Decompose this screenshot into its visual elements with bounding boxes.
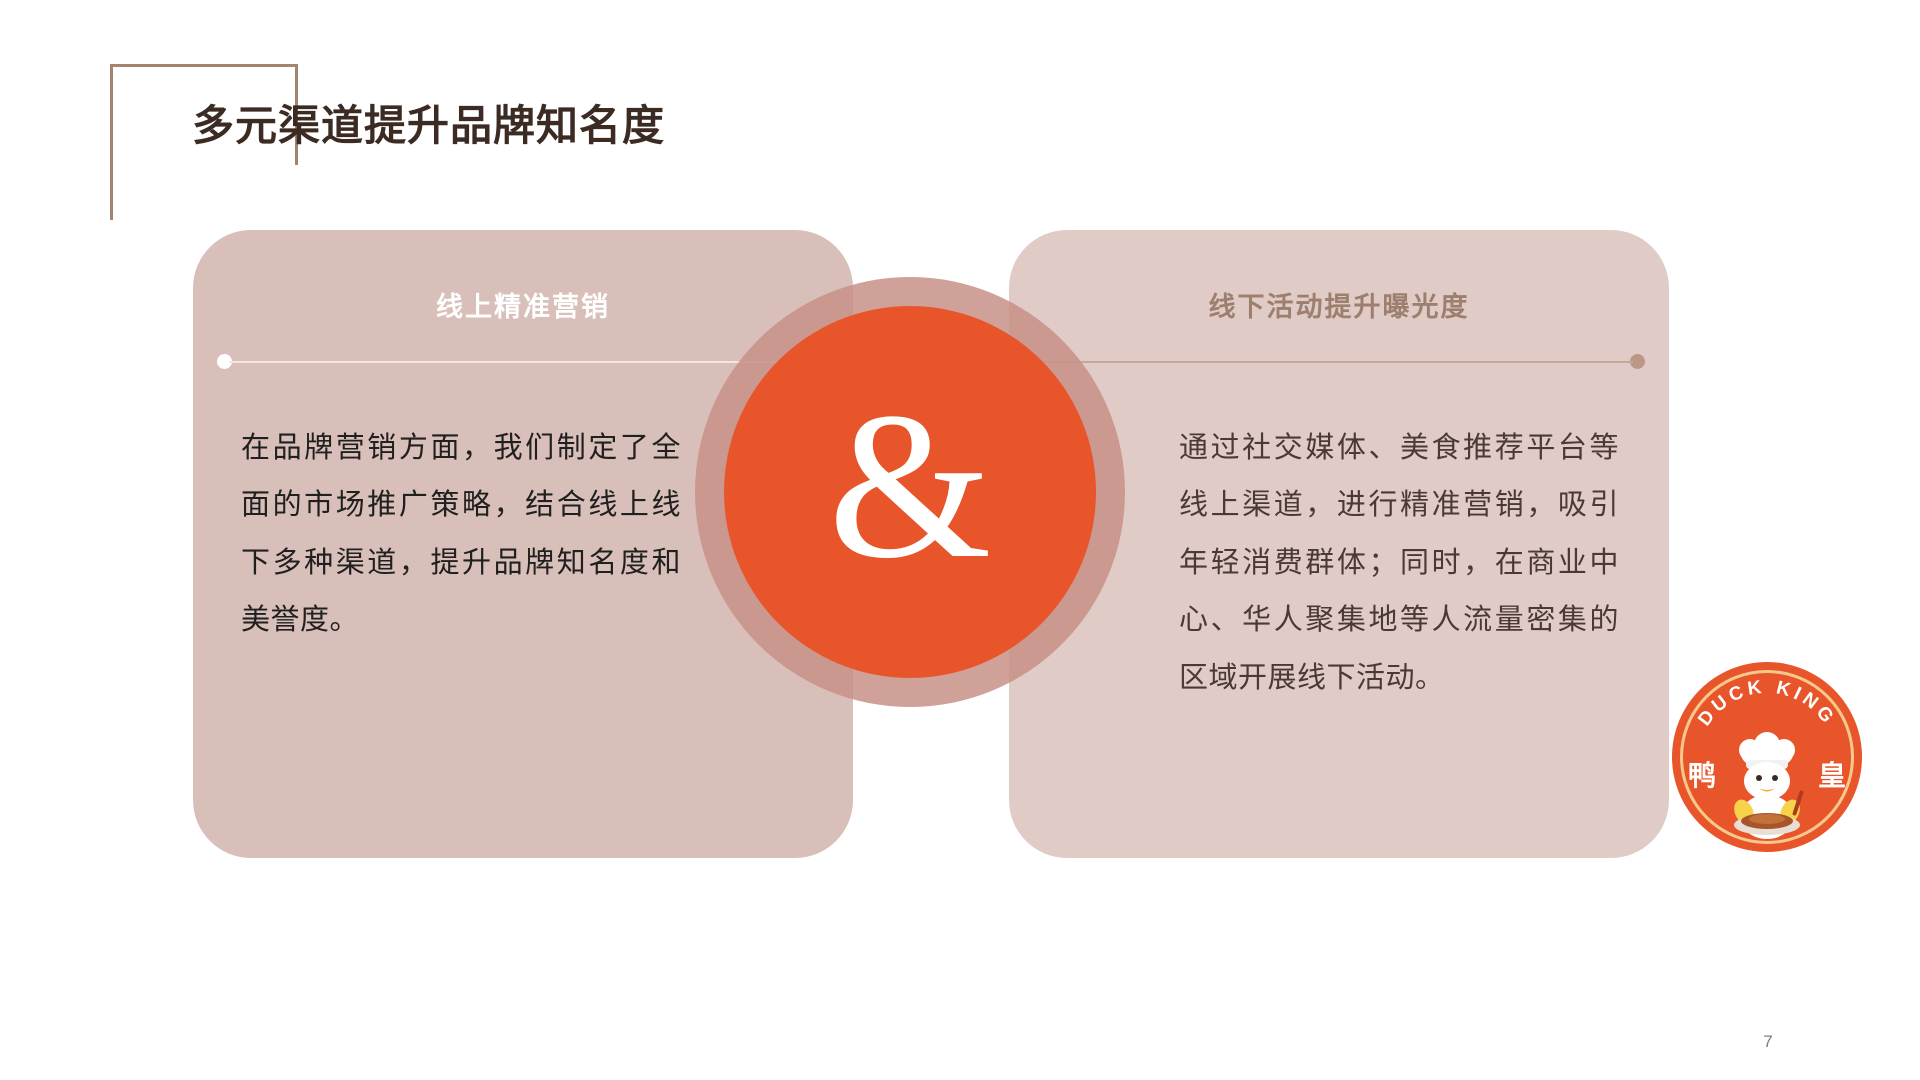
card-online-heading: 线上精准营销	[193, 285, 853, 324]
ampersand-symbol: &	[828, 381, 991, 591]
logo-cn-left: 鸭	[1688, 754, 1716, 794]
svg-text:DUCK KING: DUCK KING	[1694, 677, 1840, 730]
divider-line	[1033, 361, 1633, 363]
logo-cn-right: 皇	[1818, 754, 1846, 794]
card-offline-body: 通过社交媒体、美食推荐平台等线上渠道，进行精准营销，吸引年轻消费群体；同时，在商…	[1179, 420, 1619, 707]
center-circle: &	[724, 306, 1096, 678]
card-offline-heading: 线下活动提升曝光度	[1009, 285, 1669, 324]
card-online-body: 在品牌营销方面，我们制定了全面的市场推广策略，结合线上线下多种渠道，提升品牌知名…	[241, 420, 681, 650]
slide-root: 多元渠道提升品牌知名度 线上精准营销 在品牌营销方面，我们制定了全面的市场推广策…	[0, 0, 1920, 1080]
page-number: 7	[1752, 1032, 1784, 1052]
card-offline-divider	[1033, 360, 1645, 363]
duck-king-logo: DUCK KING 鸭 皇	[1672, 662, 1862, 852]
page-title: 多元渠道提升品牌知名度	[192, 103, 665, 149]
